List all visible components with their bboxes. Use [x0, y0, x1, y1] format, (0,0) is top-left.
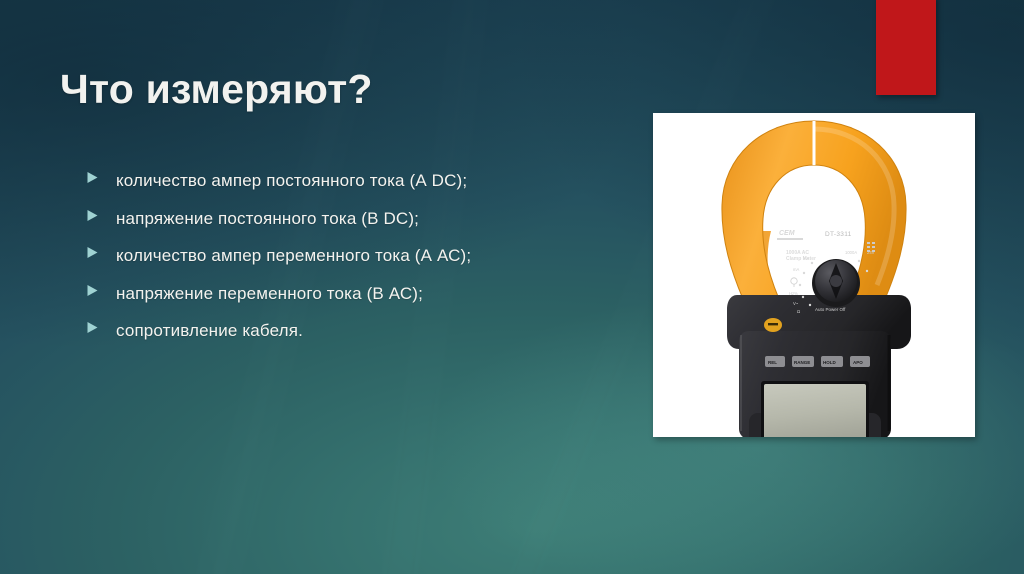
triangle-right-icon [86, 284, 116, 297]
svg-text:V~: V~ [793, 301, 799, 306]
triangle-right-icon [86, 209, 116, 222]
clamp-meter-illustration: 1000A 24V mA mA Hz% V~ Ω [653, 113, 975, 437]
list-item-label: количество ампер переменного тока (А АС)… [116, 246, 646, 266]
svg-text:1000A: 1000A [845, 250, 857, 255]
svg-text:Hz%: Hz% [789, 291, 798, 296]
svg-text:RANGE: RANGE [794, 360, 810, 365]
clamp-meter-image: 1000A 24V mA mA Hz% V~ Ω [653, 113, 975, 437]
list-item: количество ампер постоянного тока (А DC)… [86, 171, 646, 209]
list-item: напряжение постоянного тока (В DC); [86, 209, 646, 247]
triangle-right-icon [86, 246, 116, 259]
list-item: количество ампер переменного тока (А АС)… [86, 246, 646, 284]
svg-text:HOLD: HOLD [823, 360, 836, 365]
bullet-list: количество ампер постоянного тока (А DC)… [86, 171, 646, 359]
page-title: Что измеряют? [60, 66, 373, 113]
list-item: напряжение переменного тока (В АС); [86, 284, 646, 322]
list-item-label: количество ампер постоянного тока (А DC)… [116, 171, 646, 191]
list-item-label: сопротивление кабеля. [116, 321, 646, 341]
svg-text:REL: REL [768, 360, 777, 365]
svg-text:mA: mA [793, 267, 799, 272]
slide-canvas: Что измеряют? количество ампер постоянно… [0, 0, 1024, 574]
triangle-right-icon [86, 321, 116, 334]
svg-text:APO: APO [853, 360, 863, 365]
svg-text:Ω: Ω [797, 309, 800, 314]
list-item: сопротивление кабеля. [86, 321, 646, 359]
list-item-label: напряжение переменного тока (В АС); [116, 284, 646, 304]
list-item-label: напряжение постоянного тока (В DC); [116, 209, 646, 229]
lcd-screen [764, 384, 866, 437]
svg-text:mA: mA [803, 256, 809, 261]
red-accent-bar [876, 0, 936, 95]
triangle-right-icon [86, 171, 116, 184]
clamp-jaw [722, 121, 906, 299]
